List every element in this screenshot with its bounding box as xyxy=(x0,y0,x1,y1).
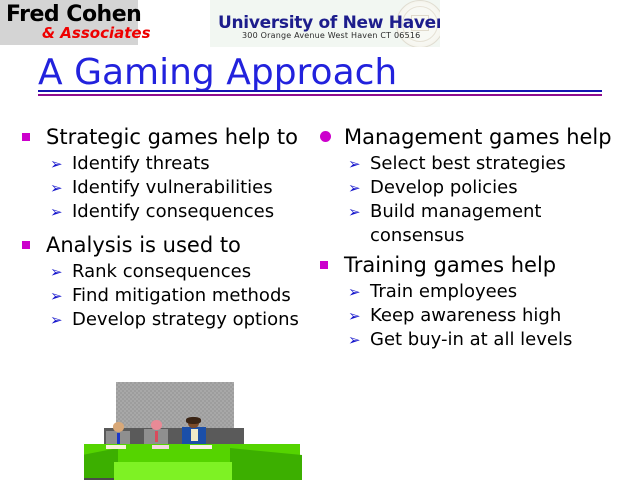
clipart-person-tie xyxy=(117,433,120,444)
right-content-column: Management games help ➢ Select best stra… xyxy=(316,124,628,352)
arrow-bullet-icon: ➢ xyxy=(50,176,63,200)
arrow-bullet-icon: ➢ xyxy=(348,200,361,224)
bullet-level2-select-best-strategies: ➢ Select best strategies xyxy=(316,152,628,176)
bullet-level2-label: Rank consequences xyxy=(72,261,251,282)
clipart-person-tie xyxy=(155,431,158,442)
arrow-bullet-icon: ➢ xyxy=(348,328,361,352)
bullet-level1-label: Analysis is used to xyxy=(46,233,241,257)
clipart-paper xyxy=(106,445,126,449)
clipart-person-head xyxy=(113,422,124,432)
bullet-level2-identify-threats: ➢ Identify threats xyxy=(18,152,328,176)
bullet-level2-train-employees: ➢ Train employees xyxy=(316,280,628,304)
bullet-level1-management-games-help: Management games help xyxy=(316,124,628,150)
bullet-level2-label: Get buy-in at all levels xyxy=(370,329,572,350)
arrow-bullet-icon: ➢ xyxy=(50,260,63,284)
bullet-level2-label: Develop policies xyxy=(370,177,518,198)
slide-header: Fred Cohen & Associates University of Ne… xyxy=(0,0,640,48)
bullet-level1-label: Management games help xyxy=(344,125,612,149)
bullet-level2-label: Train employees xyxy=(370,281,517,302)
bullet-level1-label: Strategic games help to xyxy=(46,125,298,149)
bullet-level1-analysis-is-used-to: Analysis is used to xyxy=(18,232,328,258)
bullet-level2-identify-consequences: ➢ Identify consequences xyxy=(18,200,328,224)
square-bullet-icon xyxy=(22,133,30,141)
arrow-bullet-icon: ➢ xyxy=(348,304,361,328)
bullet-level2-develop-policies: ➢ Develop policies xyxy=(316,176,628,200)
bullet-level1-training-games-help: Training games help xyxy=(316,252,628,278)
university-name: University of New Haven xyxy=(218,13,440,33)
bullet-level2-label: Identify consequences xyxy=(72,201,274,222)
bullet-level2-label: Keep awareness high xyxy=(370,305,561,326)
bullet-level2-build-management-consensus: ➢ Build management consensus xyxy=(316,200,628,248)
left-content-column: Strategic games help to ➢ Identify threa… xyxy=(18,124,328,332)
clipart-paper xyxy=(152,445,169,449)
bullet-level1-label: Training games help xyxy=(344,253,556,277)
bullet-level2-label: Develop strategy options xyxy=(72,309,299,330)
arrow-bullet-icon: ➢ xyxy=(50,308,63,332)
arrow-bullet-icon: ➢ xyxy=(348,152,361,176)
spacer xyxy=(18,224,328,232)
logo-secondary-text: & Associates xyxy=(42,24,151,42)
arrow-bullet-icon: ➢ xyxy=(348,176,361,200)
bullet-level2-rank-consequences: ➢ Rank consequences xyxy=(18,260,328,284)
round-bullet-icon xyxy=(320,131,331,142)
bullet-level2-label: Build management consensus xyxy=(370,201,541,246)
bullet-level2-label: Select best strategies xyxy=(370,153,566,174)
clipart-table-front xyxy=(114,462,232,480)
bullet-level2-develop-strategy-options: ➢ Develop strategy options xyxy=(18,308,328,332)
fred-cohen-logo: Fred Cohen & Associates xyxy=(0,0,138,45)
arrow-bullet-icon: ➢ xyxy=(348,280,361,304)
bullet-level1-strategic-games: Strategic games help to xyxy=(18,124,328,150)
title-divider-magenta xyxy=(38,94,602,96)
clipart-person-head xyxy=(151,420,162,430)
title-divider-blue xyxy=(38,90,602,92)
clipart-paper xyxy=(190,445,212,449)
bullet-level2-keep-awareness-high: ➢ Keep awareness high xyxy=(316,304,628,328)
arrow-bullet-icon: ➢ xyxy=(50,152,63,176)
bullet-level2-get-buy-in-at-all-levels: ➢ Get buy-in at all levels xyxy=(316,328,628,352)
bullet-level2-label: Identify vulnerabilities xyxy=(72,177,273,198)
square-bullet-icon xyxy=(22,241,30,249)
meeting-table-clipart xyxy=(84,378,304,480)
arrow-bullet-icon: ➢ xyxy=(50,200,63,224)
page-title: A Gaming Approach xyxy=(38,52,397,93)
clipart-person-shirt xyxy=(191,429,198,441)
bullet-level2-identify-vulnerabilities: ➢ Identify vulnerabilities xyxy=(18,176,328,200)
square-bullet-icon xyxy=(320,261,328,269)
university-address: 300 Orange Avenue West Haven CT 06516 xyxy=(242,31,420,40)
bullet-level2-label: Find mitigation methods xyxy=(72,285,291,306)
university-of-new-haven-logo: University of New Haven 300 Orange Avenu… xyxy=(210,0,440,47)
bullet-level2-label: Identify threats xyxy=(72,153,210,174)
bullet-level2-find-mitigation-methods: ➢ Find mitigation methods xyxy=(18,284,328,308)
arrow-bullet-icon: ➢ xyxy=(50,284,63,308)
clipart-presentation-screen xyxy=(116,382,234,428)
clipart-person-hair xyxy=(186,417,201,424)
